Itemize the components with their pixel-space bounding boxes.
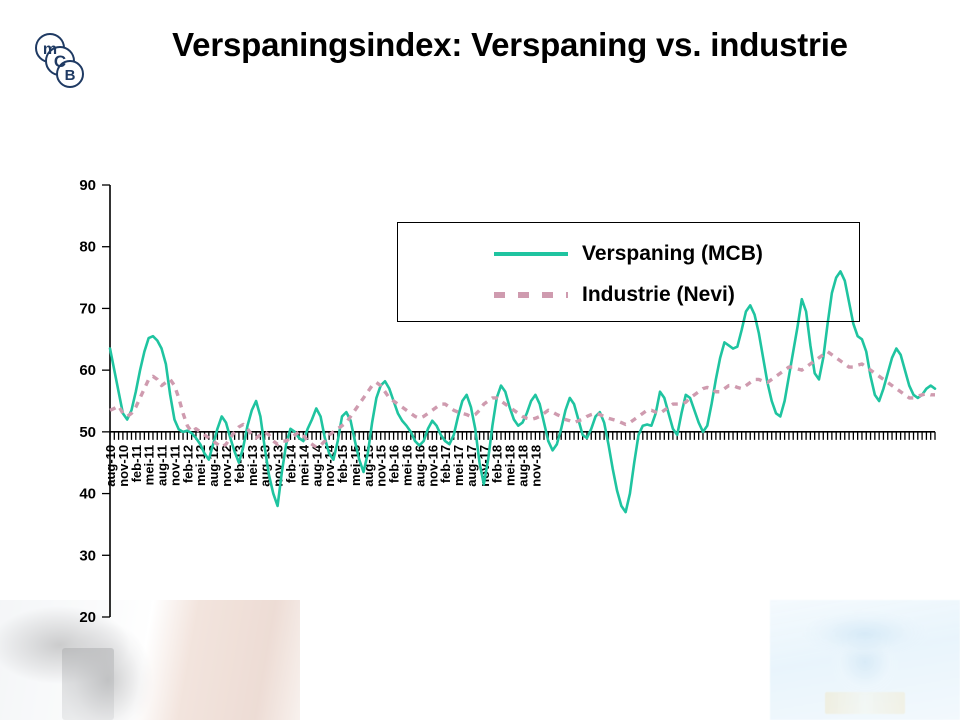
legend-label-verspaning: Verspaning (MCB) <box>582 242 763 266</box>
y-tick-label: 70 <box>79 300 96 317</box>
y-tick-label: 90 <box>79 177 96 194</box>
y-tick-label: 60 <box>79 362 96 379</box>
page-title: Verspaningsindex: Verspaning vs. industr… <box>160 24 860 65</box>
chart-legend: Verspaning (MCB) Industrie (Nevi) <box>397 222 860 322</box>
slide-root: m C B Verspaningsindex: Verspaning vs. i… <box>0 0 960 720</box>
x-tick-label: nov-18 <box>528 445 543 487</box>
legend-swatch-solid-line <box>490 244 572 264</box>
y-tick-label: 80 <box>79 239 96 256</box>
mcb-logo: m C B <box>20 20 100 100</box>
y-tick-label: 20 <box>79 609 96 626</box>
legend-swatch-dashed-line <box>490 285 572 305</box>
legend-label-industrie: Industrie (Nevi) <box>582 283 735 307</box>
y-tick-label: 50 <box>79 424 96 441</box>
legend-item-verspaning: Verspaning (MCB) <box>398 235 859 273</box>
svg-text:B: B <box>65 67 76 84</box>
legend-item-industrie: Industrie (Nevi) <box>398 276 859 314</box>
y-tick-label: 30 <box>79 547 96 564</box>
y-tick-label: 40 <box>79 486 96 503</box>
